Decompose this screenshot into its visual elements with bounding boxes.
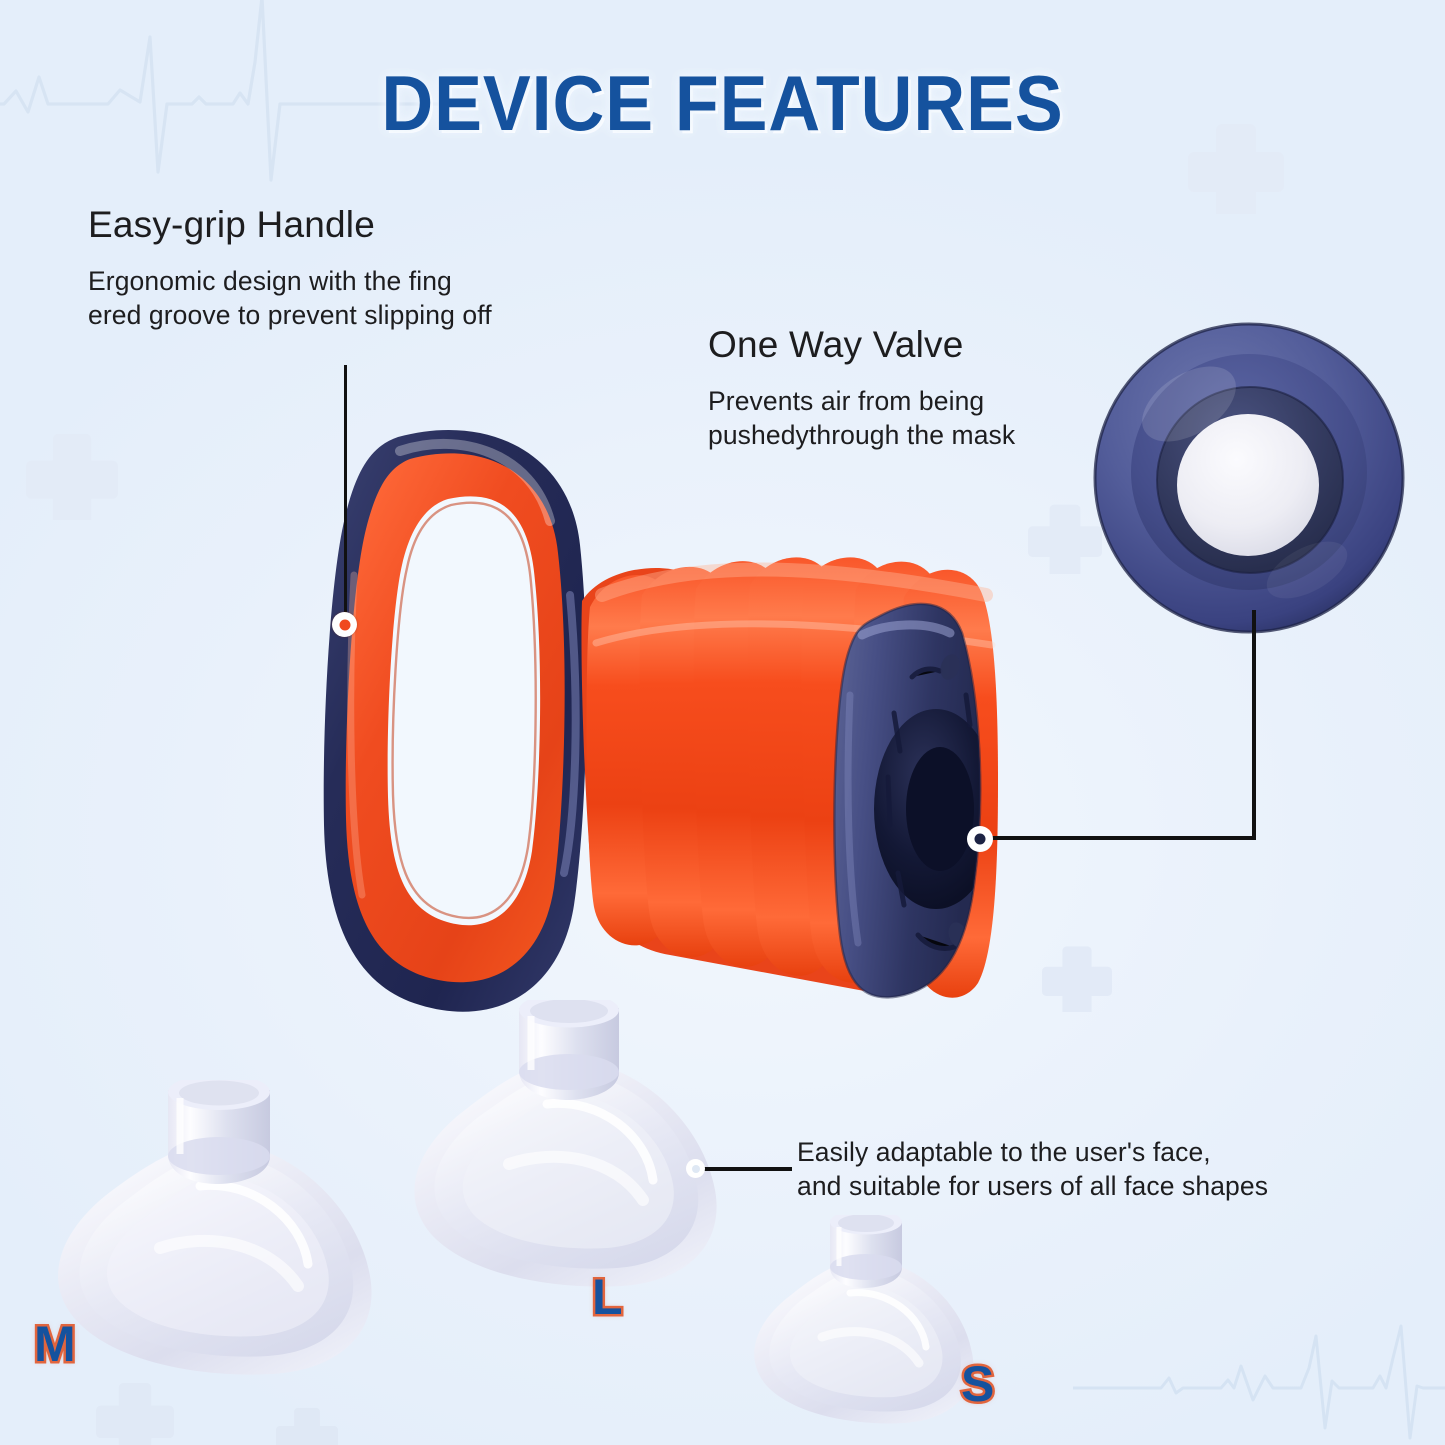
feature-description: Prevents air from being pushedythrough t… <box>708 385 1015 453</box>
mask-large-image <box>395 1000 740 1300</box>
mask-callout-line <box>700 1167 792 1171</box>
handle-callout-line <box>344 365 347 617</box>
size-badge-large: L <box>592 1268 623 1326</box>
mask-callout-dot-icon <box>686 1159 705 1178</box>
medical-cross-icon <box>1042 942 1112 1012</box>
feature-easy-grip-handle: Easy-grip Handle Ergonomic design with t… <box>88 205 492 333</box>
handle-callout-dot-icon <box>332 612 357 637</box>
feature-mask-adaptability: Easily adaptable to the user's face, and… <box>797 1135 1268 1204</box>
feature-heading: One Way Valve <box>708 325 1015 366</box>
heartbeat-line-icon <box>1073 1318 1445 1443</box>
handle-ring <box>324 430 587 1012</box>
valve-callout-dot-icon <box>967 826 993 852</box>
resuscitator-bellows-device-image <box>250 395 1050 1055</box>
page-title: DEVICE FEATURES <box>58 58 1387 149</box>
size-badge-small: S <box>961 1355 994 1413</box>
feature-description: Ergonomic design with the fing ered groo… <box>88 265 492 333</box>
medical-cross-icon <box>96 1378 174 1445</box>
mask-small-image <box>740 1215 990 1430</box>
handle-callout-dot-center-icon <box>339 619 350 630</box>
feature-one-way-valve: One Way Valve Prevents air from being pu… <box>708 325 1015 453</box>
valve-callout-line-vertical <box>1252 610 1256 839</box>
medical-cross-icon <box>26 428 118 520</box>
feature-description: Easily adaptable to the user's face, and… <box>797 1135 1268 1204</box>
bellows-body <box>581 557 998 997</box>
one-way-valve-closeup-image <box>1093 322 1405 634</box>
size-badge-medium: M <box>34 1315 76 1373</box>
valve-callout-dot-center-icon <box>975 834 986 845</box>
valve-faceplate <box>834 604 998 997</box>
mask-medium-image <box>40 1080 400 1390</box>
mask-callout-dot-center-icon <box>692 1165 700 1173</box>
feature-heading: Easy-grip Handle <box>88 205 492 246</box>
infographic-canvas: DEVICE FEATURES <box>0 0 1445 1445</box>
medical-cross-icon <box>276 1404 338 1445</box>
medical-cross-icon <box>1028 500 1102 574</box>
valve-callout-line-horizontal <box>990 836 1256 840</box>
